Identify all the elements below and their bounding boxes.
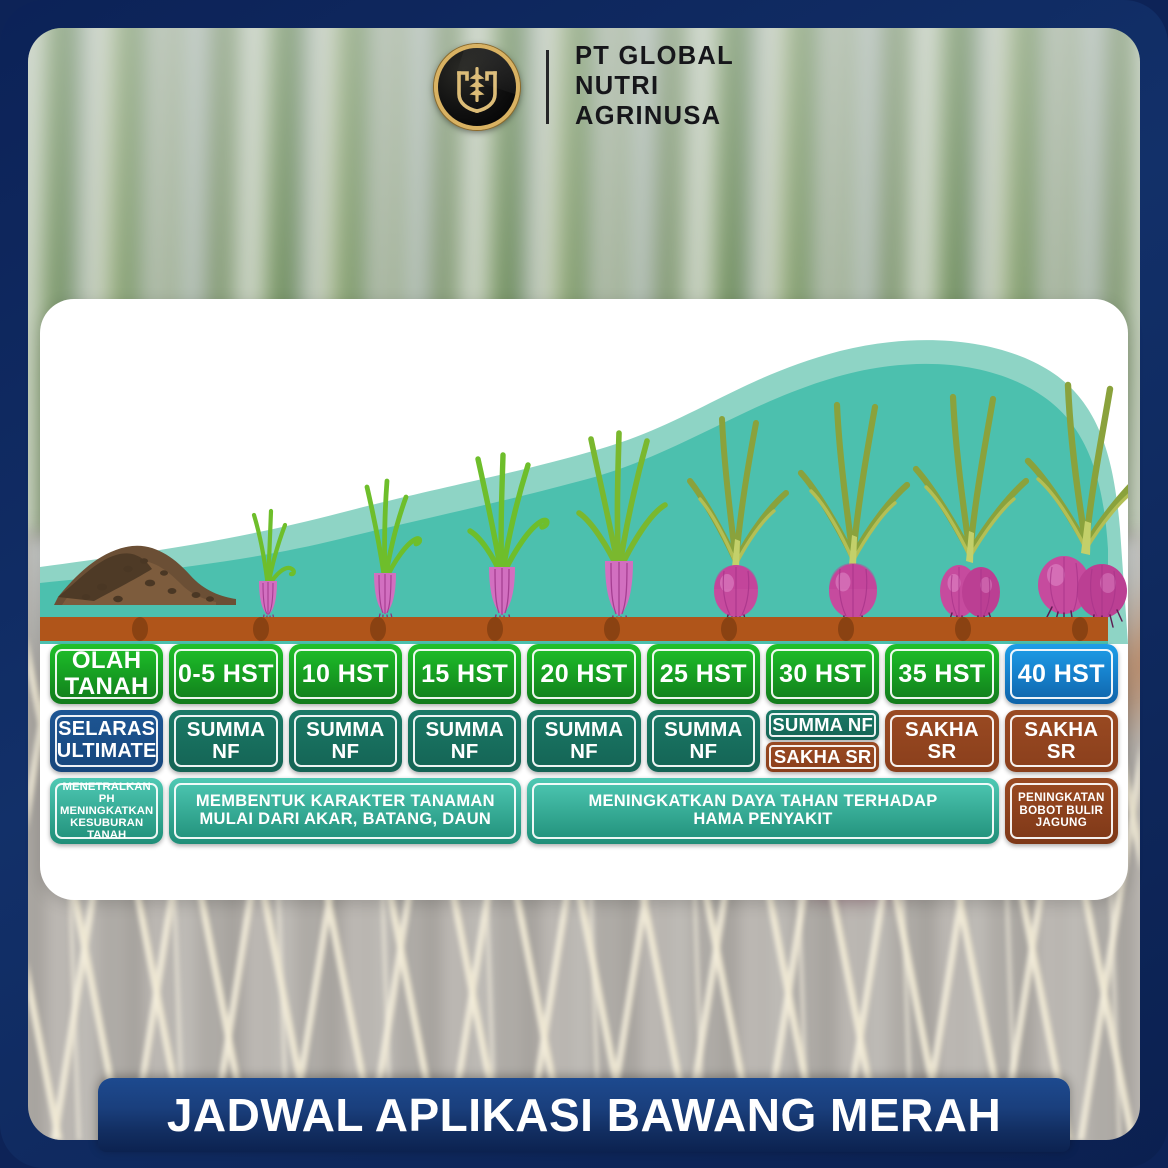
- stage-badge-label: OLAHTANAH: [59, 648, 155, 700]
- description-bar-label: MEMBENTUK KARAKTER TANAMANMULAI DARI AKA…: [190, 793, 501, 829]
- description-bar-2: MEMBENTUK KARAKTER TANAMANMULAI DARI AKA…: [169, 778, 521, 844]
- title-banner: JADWAL APLIKASI BAWANG MERAH: [98, 1078, 1070, 1152]
- stage-badge-10-hst[interactable]: 10 HST: [289, 644, 402, 704]
- stage-badge-label: 0-5 HST: [172, 661, 280, 688]
- stage-badge-label: 25 HST: [654, 661, 753, 688]
- stage-badge-label: 40 HST: [1012, 661, 1111, 688]
- schedule-column: 25 HSTSUMMA NF: [647, 644, 760, 772]
- description-bar-4: PENINGKATANBOBOT BULIRJAGUNG: [1005, 778, 1118, 844]
- product-badge-summa-nf[interactable]: SUMMA NF: [766, 710, 879, 740]
- product-badge-label: SAKHA SR: [885, 719, 998, 763]
- header: PT GLOBAL NUTRI AGRINUSA: [0, 38, 1168, 136]
- product-badge-group: SUMMA NF: [169, 710, 282, 772]
- soil-line-icon: [40, 617, 1108, 641]
- product-badge-label: SELARASULTIMATE: [51, 719, 163, 762]
- brand-line-1: PT GLOBAL: [575, 42, 734, 72]
- stage-badge-20-hst[interactable]: 20 HST: [527, 644, 640, 704]
- product-badge-label: SAKHA SR: [768, 747, 878, 767]
- product-badge-sakha-sr[interactable]: SAKHA SR: [1005, 710, 1118, 772]
- product-badge-selaras-ultimate[interactable]: SELARASULTIMATE: [50, 710, 163, 772]
- description-bar-1: MENETRALKAN PHMENINGKATKANKESUBURANTANAH: [50, 778, 163, 844]
- product-badge-label: SUMMA NF: [289, 719, 402, 763]
- schedule-column: 35 HSTSAKHA SR: [885, 644, 998, 772]
- product-badge-label: SUMMA NF: [408, 719, 521, 763]
- schedule-column: 0-5 HSTSUMMA NF: [169, 644, 282, 772]
- stage-badge-0-5-hst[interactable]: 0-5 HST: [169, 644, 282, 704]
- product-badge-label: SAKHA SR: [1005, 719, 1118, 763]
- product-badge-sakha-sr[interactable]: SAKHA SR: [766, 742, 879, 772]
- stage-badge-15-hst[interactable]: 15 HST: [408, 644, 521, 704]
- stage-badge-40-hst[interactable]: 40 HST: [1005, 644, 1118, 704]
- product-badge-label: SUMMA NF: [647, 719, 760, 763]
- stage-badge-30-hst[interactable]: 30 HST: [766, 644, 879, 704]
- description-bar-label: MENINGKATKAN DAYA TAHAN TERHADAPHAMA PEN…: [582, 793, 943, 829]
- product-badge-group: SELARASULTIMATE: [50, 710, 163, 772]
- brand-line-3: AGRINUSA: [575, 102, 734, 132]
- product-badge-group: SUMMA NFSAKHA SR: [766, 710, 879, 772]
- schedule-column: 30 HSTSUMMA NFSAKHA SR: [766, 644, 879, 772]
- product-badge-summa-nf[interactable]: SUMMA NF: [289, 710, 402, 772]
- stage-badge-25-hst[interactable]: 25 HST: [647, 644, 760, 704]
- schedule-column: 10 HSTSUMMA NF: [289, 644, 402, 772]
- product-badge-group: SUMMA NF: [408, 710, 521, 772]
- schedule-column: 20 HSTSUMMA NF: [527, 644, 640, 772]
- product-badge-group: SUMMA NF: [289, 710, 402, 772]
- stage-badge-olah-tanah[interactable]: OLAHTANAH: [50, 644, 163, 704]
- schedule-column: 40 HSTSAKHA SR: [1005, 644, 1118, 772]
- product-badge-group: SUMMA NF: [647, 710, 760, 772]
- product-badge-label: SUMMA NF: [527, 719, 640, 763]
- description-bar-label: MENETRALKAN PHMENINGKATKANKESUBURANTANAH: [50, 781, 163, 842]
- brand-name: PT GLOBAL NUTRI AGRINUSA: [575, 42, 734, 131]
- stage-badge-label: 15 HST: [415, 661, 514, 688]
- product-badge-label: SUMMA NF: [766, 715, 879, 735]
- product-badge-summa-nf[interactable]: SUMMA NF: [647, 710, 760, 772]
- stage-badge-label: 30 HST: [773, 661, 872, 688]
- stage-badge-label: 20 HST: [534, 661, 633, 688]
- product-badge-summa-nf[interactable]: SUMMA NF: [169, 710, 282, 772]
- schedule-column: OLAHTANAHSELARASULTIMATE: [50, 644, 163, 772]
- product-badge-group: SUMMA NF: [527, 710, 640, 772]
- poster-root: PT GLOBAL NUTRI AGRINUSA: [0, 0, 1168, 1168]
- description-bar-3: MENINGKATKAN DAYA TAHAN TERHADAPHAMA PEN…: [527, 778, 998, 844]
- product-badge-group: SAKHA SR: [1005, 710, 1118, 772]
- brand-line-2: NUTRI: [575, 72, 734, 102]
- schedule-grid: OLAHTANAHSELARASULTIMATE0-5 HSTSUMMA NF1…: [40, 644, 1128, 900]
- product-badge-summa-nf[interactable]: SUMMA NF: [527, 710, 640, 772]
- banner-title: JADWAL APLIKASI BAWANG MERAH: [167, 1088, 1001, 1142]
- description-bar-label: PENINGKATANBOBOT BULIRJAGUNG: [1012, 792, 1111, 830]
- schedule-column: 15 HSTSUMMA NF: [408, 644, 521, 772]
- product-badge-summa-nf[interactable]: SUMMA NF: [408, 710, 521, 772]
- wheat-shield-emblem-icon: [434, 44, 520, 130]
- stage-badge-label: 35 HST: [892, 661, 991, 688]
- growth-illustration: [40, 299, 1128, 644]
- stage-badge-35-hst[interactable]: 35 HST: [885, 644, 998, 704]
- product-badge-group: SAKHA SR: [885, 710, 998, 772]
- product-badge-label: SUMMA NF: [169, 719, 282, 763]
- stage-badge-label: 10 HST: [296, 661, 395, 688]
- brand-divider: [546, 50, 549, 124]
- content-card: OLAHTANAHSELARASULTIMATE0-5 HSTSUMMA NF1…: [40, 299, 1128, 900]
- product-badge-sakha-sr[interactable]: SAKHA SR: [885, 710, 998, 772]
